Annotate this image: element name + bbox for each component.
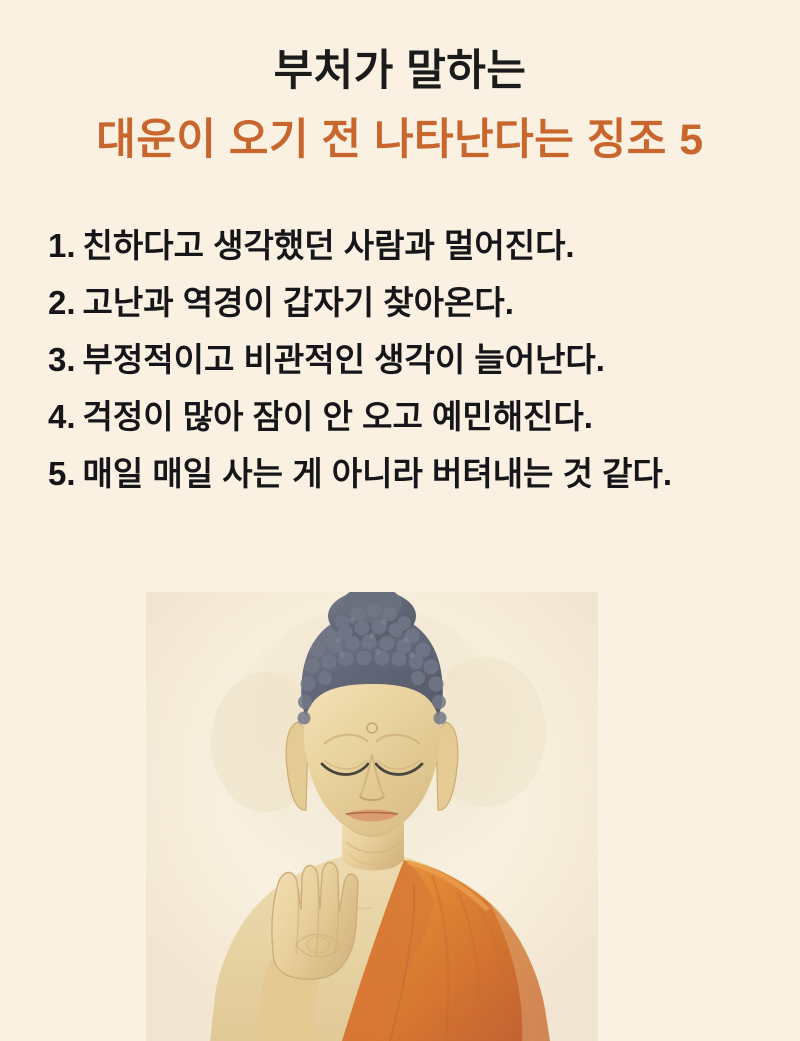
list-item-text: 매일 매일 사는 게 아니라 버텨내는 것 같다. (83, 457, 672, 490)
list-item: 5. 매일 매일 사는 게 아니라 버텨내는 것 같다. (48, 457, 772, 490)
signs-list: 1. 친하다고 생각했던 사람과 멀어진다. 2. 고난과 역경이 갑자기 찾아… (0, 229, 800, 490)
paper-texture-overlay (146, 592, 598, 1041)
list-item: 2. 고난과 역경이 갑자기 찾아온다. (48, 286, 772, 319)
list-item-text: 부정적이고 비관적인 생각이 늘어난다. (83, 343, 605, 376)
list-item-text: 고난과 역경이 갑자기 찾아온다. (83, 286, 514, 319)
list-item-number: 3. (48, 343, 76, 376)
list-item-number: 5. (48, 457, 76, 490)
list-item-number: 4. (48, 400, 76, 433)
list-item: 3. 부정적이고 비관적인 생각이 늘어난다. (48, 343, 772, 376)
buddha-illustration-svg (146, 592, 598, 1041)
list-item-number: 2. (48, 286, 76, 319)
title-block: 부처가 말하는 대운이 오기 전 나타난다는 징조 5 (0, 0, 800, 165)
page-title-line-2: 대운이 오기 전 나타난다는 징조 5 (0, 115, 800, 166)
buddha-illustration (146, 592, 598, 1041)
list-item: 1. 친하다고 생각했던 사람과 멀어진다. (48, 229, 772, 262)
list-item: 4. 걱정이 많아 잠이 안 오고 예민해진다. (48, 400, 772, 433)
poster-canvas: 부처가 말하는 대운이 오기 전 나타난다는 징조 5 1. 친하다고 생각했던… (0, 0, 800, 1041)
list-item-text: 친하다고 생각했던 사람과 멀어진다. (83, 229, 575, 262)
list-item-text: 걱정이 많아 잠이 안 오고 예민해진다. (83, 400, 593, 433)
list-item-number: 1. (48, 229, 76, 262)
page-title-line-1: 부처가 말하는 (0, 46, 800, 97)
